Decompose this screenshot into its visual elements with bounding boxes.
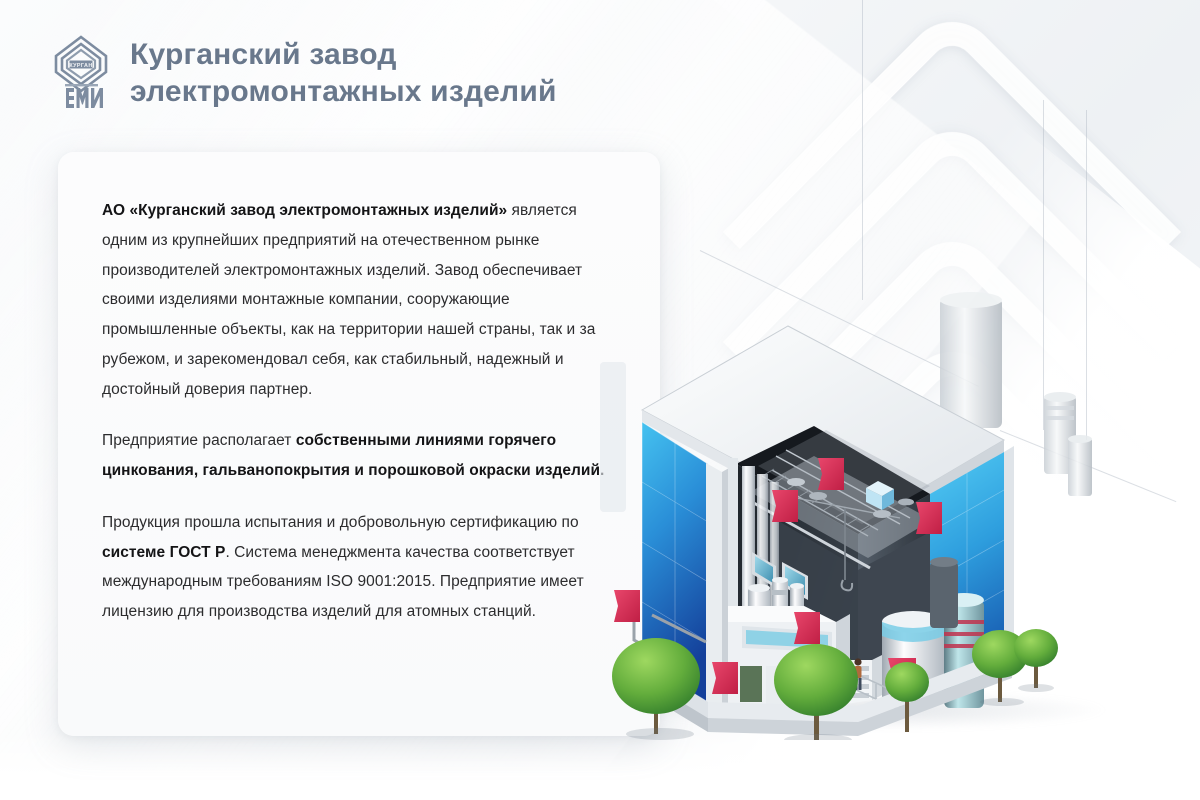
company-legal-name: АО «Курганский завод электромонтажных из… bbox=[102, 202, 507, 219]
hexagon-emblem-logo: КУРГАН bbox=[52, 34, 110, 112]
company-description-card: АО «Курганский завод электромонтажных из… bbox=[58, 152, 660, 736]
tree bbox=[612, 638, 700, 734]
page-header: КУРГАН Курганский завод электромонтажных… bbox=[52, 34, 557, 112]
background-bottom-fade bbox=[0, 730, 1200, 800]
red-marker bbox=[614, 590, 640, 622]
page-title-line-2: электромонтажных изделий bbox=[130, 73, 557, 110]
paragraph-company-overview: АО «Курганский завод электромонтажных из… bbox=[102, 196, 618, 404]
page-title: Курганский завод электромонтажных издели… bbox=[130, 36, 557, 110]
paragraph-certification: Продукция прошла испытания и добровольну… bbox=[102, 508, 618, 627]
company-overview-body: является одним из крупнейших предприятий… bbox=[102, 202, 595, 398]
page-title-line-1: Курганский завод bbox=[130, 38, 397, 71]
production-lines-prefix: Предприятие располагает bbox=[102, 432, 296, 449]
background-hairline-1 bbox=[862, 0, 863, 300]
certification-prefix: Продукция прошла испытания и добровольну… bbox=[102, 514, 579, 531]
isometric-industrial-plant-cutaway bbox=[600, 270, 1200, 740]
certification-standard: системе ГОСТ Р bbox=[102, 544, 225, 561]
svg-text:КУРГАН: КУРГАН bbox=[69, 63, 92, 69]
tree bbox=[1014, 629, 1058, 688]
slide-root: КУРГАН Курганский завод электромонтажных… bbox=[0, 0, 1200, 800]
paragraph-production-lines: Предприятие располагает собственными лин… bbox=[102, 426, 618, 486]
